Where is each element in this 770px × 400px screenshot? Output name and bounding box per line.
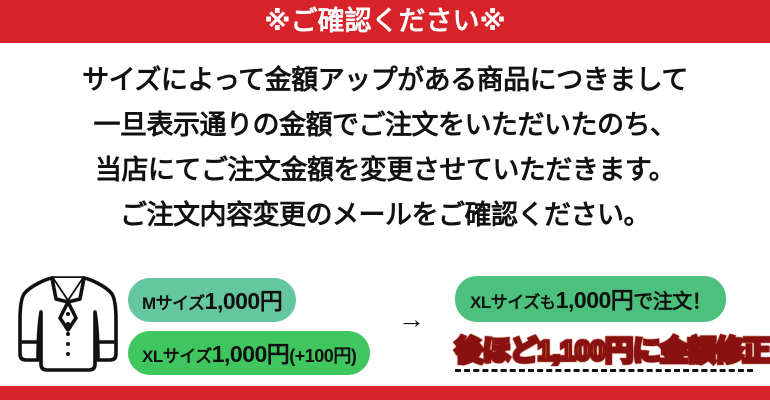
before-price-group: Mサイズ1,000円 XLサイズ1,000円(+100円) — [128, 262, 390, 375]
banner-title: ※ご確認ください※ — [264, 8, 506, 35]
arrow-right-icon: → — [398, 306, 425, 333]
price-fix-underline — [455, 369, 753, 372]
pill-m-size-label: Mサイズ — [142, 294, 205, 313]
pill-xl-amount: 1,000円 — [212, 341, 290, 367]
pill-m-amount: 1,000円 — [205, 288, 283, 314]
pill-order-mo: も — [540, 295, 556, 312]
price-pill-order: XLサイズも1,000円で注文！ — [455, 276, 726, 322]
notice-paragraph: サイズによって金額アップがある商品につきまして 一旦表示通りの金額でご注文をいた… — [0, 58, 770, 238]
shirt-icon — [16, 268, 120, 374]
price-pill-xl: XLサイズ1,000円(+100円) — [128, 331, 370, 375]
pill-order-size-label: XLサイズ — [470, 293, 540, 312]
notice-line-1: サイズによって金額アップがある商品につきまして — [0, 58, 770, 103]
promo-notice-image: ※ご確認ください※ サイズによって金額アップがある商品につきまして 一旦表示通り… — [0, 0, 770, 400]
pill-order-tail: で注文！ — [633, 291, 711, 313]
price-fix-note: 後ほど1,100円に金額修正 — [455, 336, 760, 365]
price-pill-m: Mサイズ1,000円 — [128, 278, 296, 322]
bottom-red-banner — [0, 386, 770, 400]
notice-line-4: ご注文内容変更のメールをご確認ください。 — [0, 193, 770, 238]
pill-xl-size-label: XLサイズ — [142, 347, 212, 366]
after-price-group: XLサイズも1,000円で注文！ 後ほど1,100円に金額修正 — [455, 262, 760, 372]
price-comparison-row: Mサイズ1,000円 XLサイズ1,000円(+100円) → XLサイズも1,… — [0, 262, 770, 382]
pill-order-amount: 1,000円 — [556, 287, 634, 313]
pill-xl-extra: (+100円) — [289, 346, 356, 366]
top-red-banner: ※ご確認ください※ — [0, 0, 770, 43]
notice-line-3: 当店にてご注文金額を変更させていただきます。 — [0, 148, 770, 193]
notice-line-2: 一旦表示通りの金額でご注文をいただいたのち、 — [0, 103, 770, 148]
